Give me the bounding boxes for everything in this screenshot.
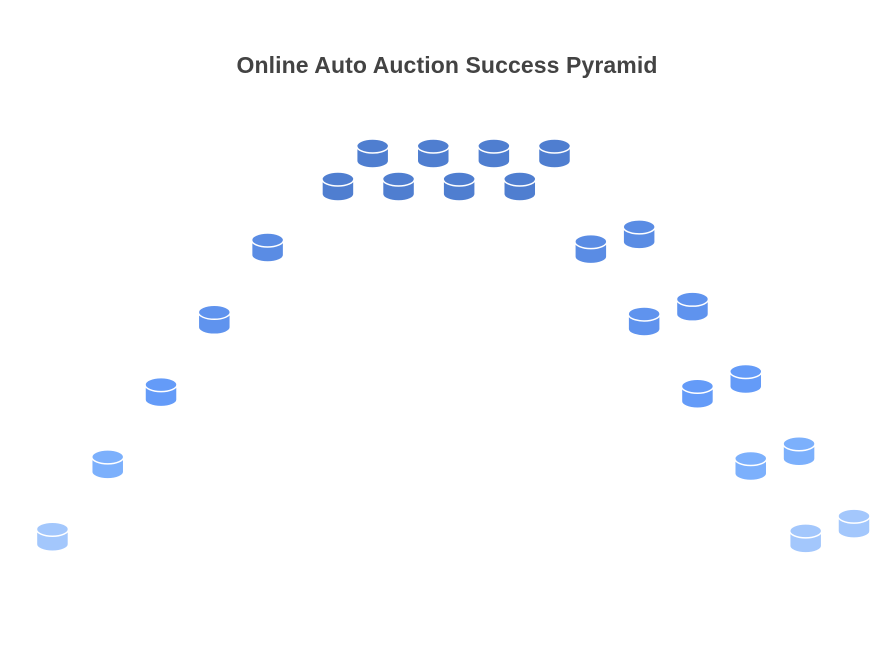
tier-studs-budgeting xyxy=(36,509,870,553)
pyramid-diagram-canvas: Online Auto Auction Success Pyramid Bidd… xyxy=(0,0,894,645)
brick-stud xyxy=(36,522,68,551)
pyramid-tier-bidding[interactable] xyxy=(275,155,616,268)
brick-stud xyxy=(623,220,655,249)
brick-stud xyxy=(838,509,870,538)
tier-label-research: Research xyxy=(379,441,449,458)
brick-stud xyxy=(145,378,177,407)
brick-stud xyxy=(383,172,415,201)
tier-label-practice: Practice xyxy=(384,513,445,530)
brick-stud xyxy=(417,139,449,168)
brick-stud xyxy=(357,139,389,168)
brick-stud xyxy=(198,305,230,334)
brick-stud xyxy=(735,452,767,481)
tier-label-bidding: Bidding xyxy=(385,224,443,241)
tier-label-logistics: Logistics xyxy=(380,369,448,386)
tier-label-inspection: Inspection xyxy=(375,297,453,314)
brick-stud xyxy=(676,292,708,321)
tier-studs-practice xyxy=(92,437,815,481)
brick-stud xyxy=(443,172,475,201)
brick-stud xyxy=(575,235,607,264)
brick-stud xyxy=(478,139,510,168)
brick-stud xyxy=(628,307,660,336)
tier-studs-bidding xyxy=(322,139,571,201)
brick-stud xyxy=(730,364,762,393)
brick-stud xyxy=(92,450,124,479)
tier-label-budgeting: Budgeting xyxy=(376,586,453,603)
tier-top-face xyxy=(4,517,886,558)
brick-stud xyxy=(790,524,822,553)
pyramid-tier-research[interactable] xyxy=(115,372,776,485)
brick-stud xyxy=(681,379,713,408)
tier-studs-logistics xyxy=(198,292,708,336)
brick-stud xyxy=(538,139,570,168)
lego-pyramid-graphic: BiddingInspectionLogisticsResearchPracti… xyxy=(0,0,894,645)
brick-stud xyxy=(322,172,354,201)
brick-stud xyxy=(783,437,815,466)
brick-stud xyxy=(252,233,284,262)
tier-studs-research xyxy=(145,364,762,408)
brick-stud xyxy=(504,172,536,201)
pyramid-tier-budgeting[interactable] xyxy=(4,517,886,630)
tier-studs-inspection xyxy=(252,220,656,264)
